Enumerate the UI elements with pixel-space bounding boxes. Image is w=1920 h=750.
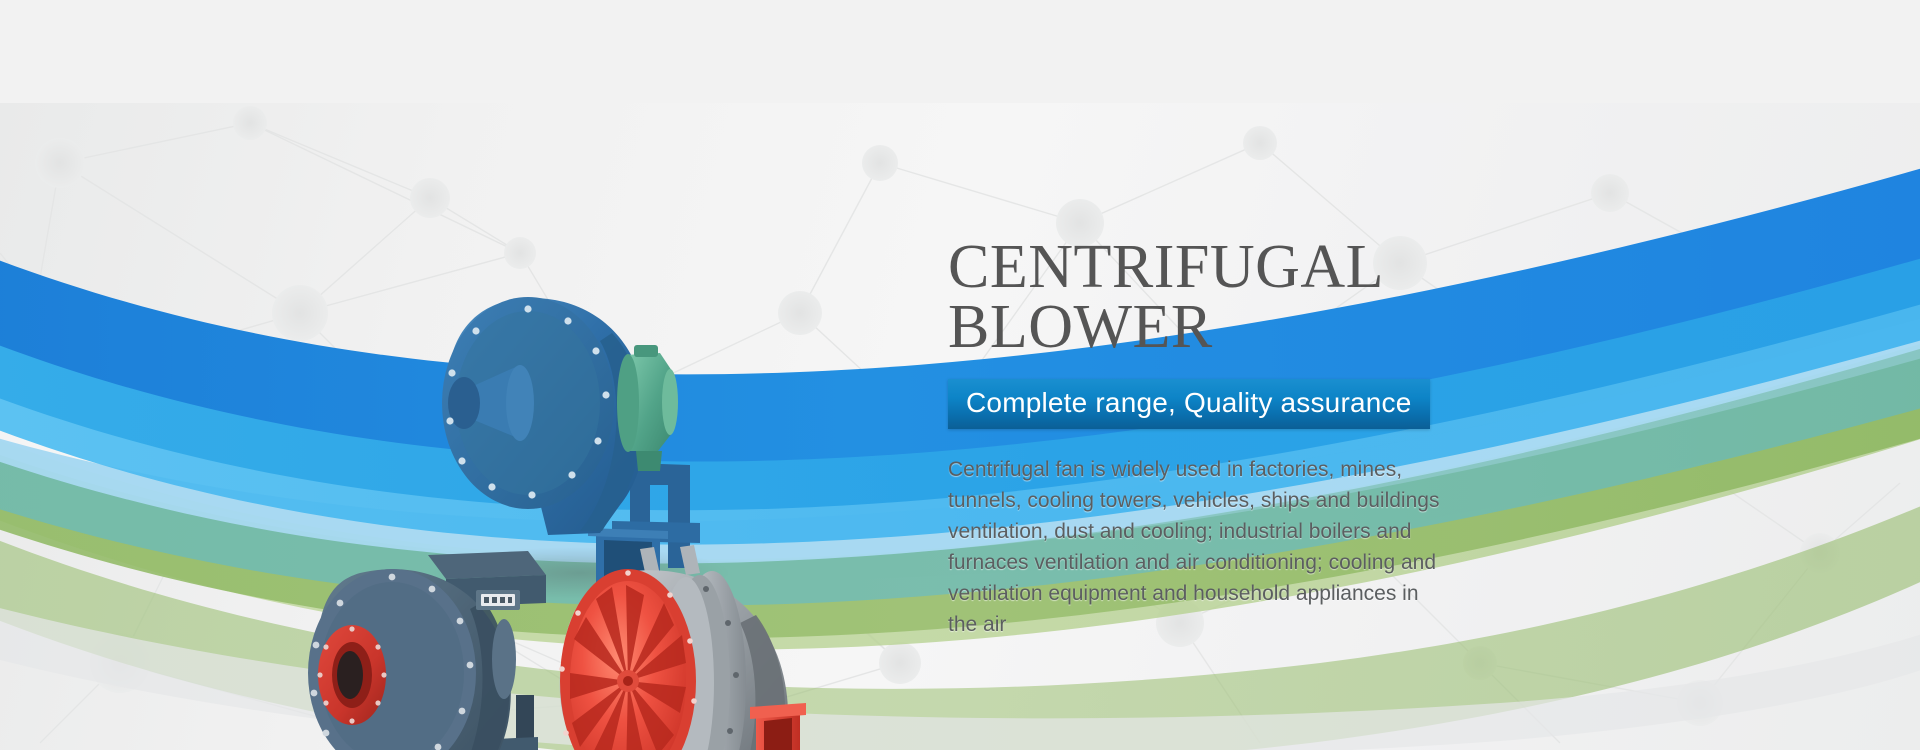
tagline-container: Complete range, Quality assurance: [948, 379, 1430, 429]
banner-stage: CENTRIFUGAL BLOWER Complete range, Quali…: [0, 103, 1920, 750]
page-title: CENTRIFUGAL BLOWER: [948, 238, 1588, 357]
product-nameplate: [476, 590, 520, 610]
banner-copy-block: CENTRIFUGAL BLOWER Complete range, Quali…: [948, 238, 1588, 640]
tagline-badge: Complete range, Quality assurance: [948, 379, 1430, 429]
banner-description: Centrifugal fan is widely used in factor…: [948, 454, 1448, 640]
page-top-strip: [0, 0, 1920, 103]
centrifugal-blower-banner: CENTRIFUGAL BLOWER Complete range, Quali…: [0, 0, 1920, 750]
